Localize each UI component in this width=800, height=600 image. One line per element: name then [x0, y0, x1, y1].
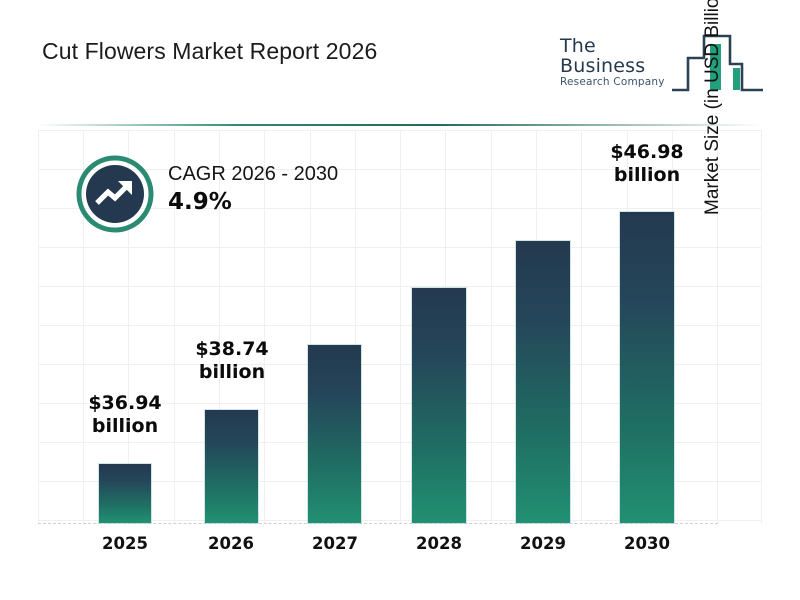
bar-value-label-2026-amount: $38.74	[172, 338, 292, 361]
bar-value-label-2025-amount: $36.94	[65, 392, 185, 415]
cagr-text-block: CAGR 2026 - 2030 4.9%	[168, 161, 338, 217]
x-axis-label-2028: 2028	[389, 534, 489, 553]
x-axis-label-2026: 2026	[181, 534, 281, 553]
bar-2030[interactable]	[620, 212, 674, 523]
x-axis-label-2029: 2029	[493, 534, 593, 553]
bar-value-label-2030-amount: $46.98	[587, 141, 707, 164]
bar-2026[interactable]	[205, 410, 258, 523]
bar-2028[interactable]	[412, 288, 466, 523]
bar-2025[interactable]	[99, 464, 151, 523]
bar-value-label-2030: $46.98 billion	[587, 141, 707, 187]
y-axis-title: Market Size (in USD Billion)	[702, 0, 724, 215]
bar-value-label-2025: $36.94 billion	[65, 392, 185, 438]
bar-value-label-2025-unit: billion	[65, 415, 185, 438]
bar-series: $36.94 billion $38.74 billion $46.98 bil…	[0, 0, 800, 600]
x-axis-label-2025: 2025	[75, 534, 175, 553]
trending-up-arrow-icon	[76, 155, 154, 233]
bar-value-label-2026-unit: billion	[172, 361, 292, 384]
report-chart-page: Cut Flowers Market Report 2026 The Busin…	[0, 0, 800, 600]
cagr-period-label: CAGR 2026 - 2030	[168, 161, 338, 187]
bar-2029[interactable]	[516, 241, 570, 523]
x-axis-label-2030: 2030	[597, 534, 697, 553]
cagr-value: 4.9%	[168, 187, 338, 217]
bar-value-label-2030-unit: billion	[587, 164, 707, 187]
bar-2027[interactable]	[308, 345, 361, 523]
cagr-callout: CAGR 2026 - 2030 4.9%	[76, 155, 406, 237]
bar-value-label-2026: $38.74 billion	[172, 338, 292, 384]
x-axis-label-2027: 2027	[285, 534, 385, 553]
